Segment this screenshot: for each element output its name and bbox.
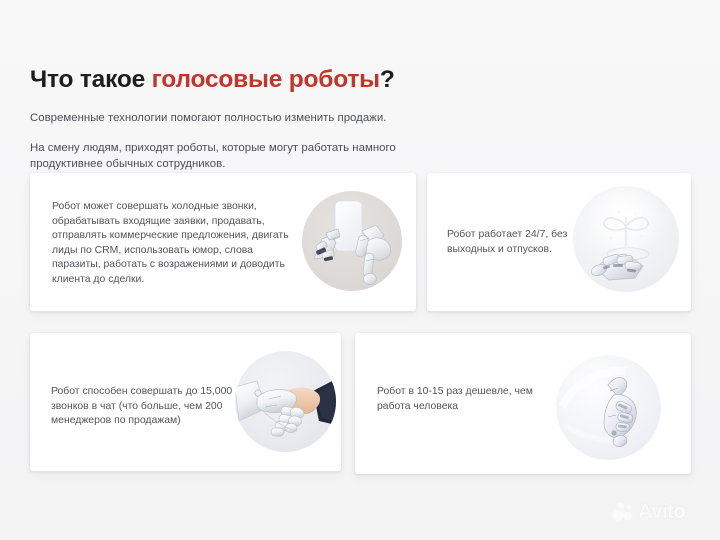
robot-hand-holding-glowing-sprout-photo	[573, 186, 679, 292]
feature-card-cold-calls: Робот может совершать холодные звонки, о…	[30, 173, 416, 311]
feature-card-text: Робот способен совершать до 15,000 звонк…	[51, 385, 251, 429]
page-title-accent: голосовые роботы	[152, 66, 380, 93]
robot-human-handshake-photo	[235, 351, 336, 452]
intro-paragraph-1: Современные технологии помогают полность…	[30, 110, 386, 126]
page-root: Что такое голосовые роботы? Современные …	[0, 0, 720, 540]
avito-dots-logo-icon	[612, 501, 634, 523]
page-title: Что такое голосовые роботы?	[30, 66, 395, 94]
robot-hands-holding-smartphone-photo	[302, 191, 402, 291]
feature-card-cost: Робот в 10-15 раз дешевле, чем работа че…	[355, 333, 691, 474]
avito-watermark: Avito	[612, 501, 685, 523]
robot-hand-pointing-up-photo	[556, 355, 661, 460]
avito-watermark-text: Avito	[638, 502, 685, 522]
page-title-prefix: Что такое	[30, 66, 152, 93]
intro-paragraph-2: На смену людям, приходят роботы, которые…	[30, 140, 440, 172]
feature-card-call-volume: Робот способен совершать до 15,000 звонк…	[30, 333, 341, 471]
feature-card-text: Робот в 10-15 раз дешевле, чем работа че…	[377, 385, 547, 414]
feature-card-text: Робот может совершать холодные звонки, о…	[52, 200, 302, 288]
feature-card-always-on: Робот работает 24/7, без выходных и отпу…	[427, 173, 691, 311]
page-title-suffix: ?	[380, 66, 395, 93]
